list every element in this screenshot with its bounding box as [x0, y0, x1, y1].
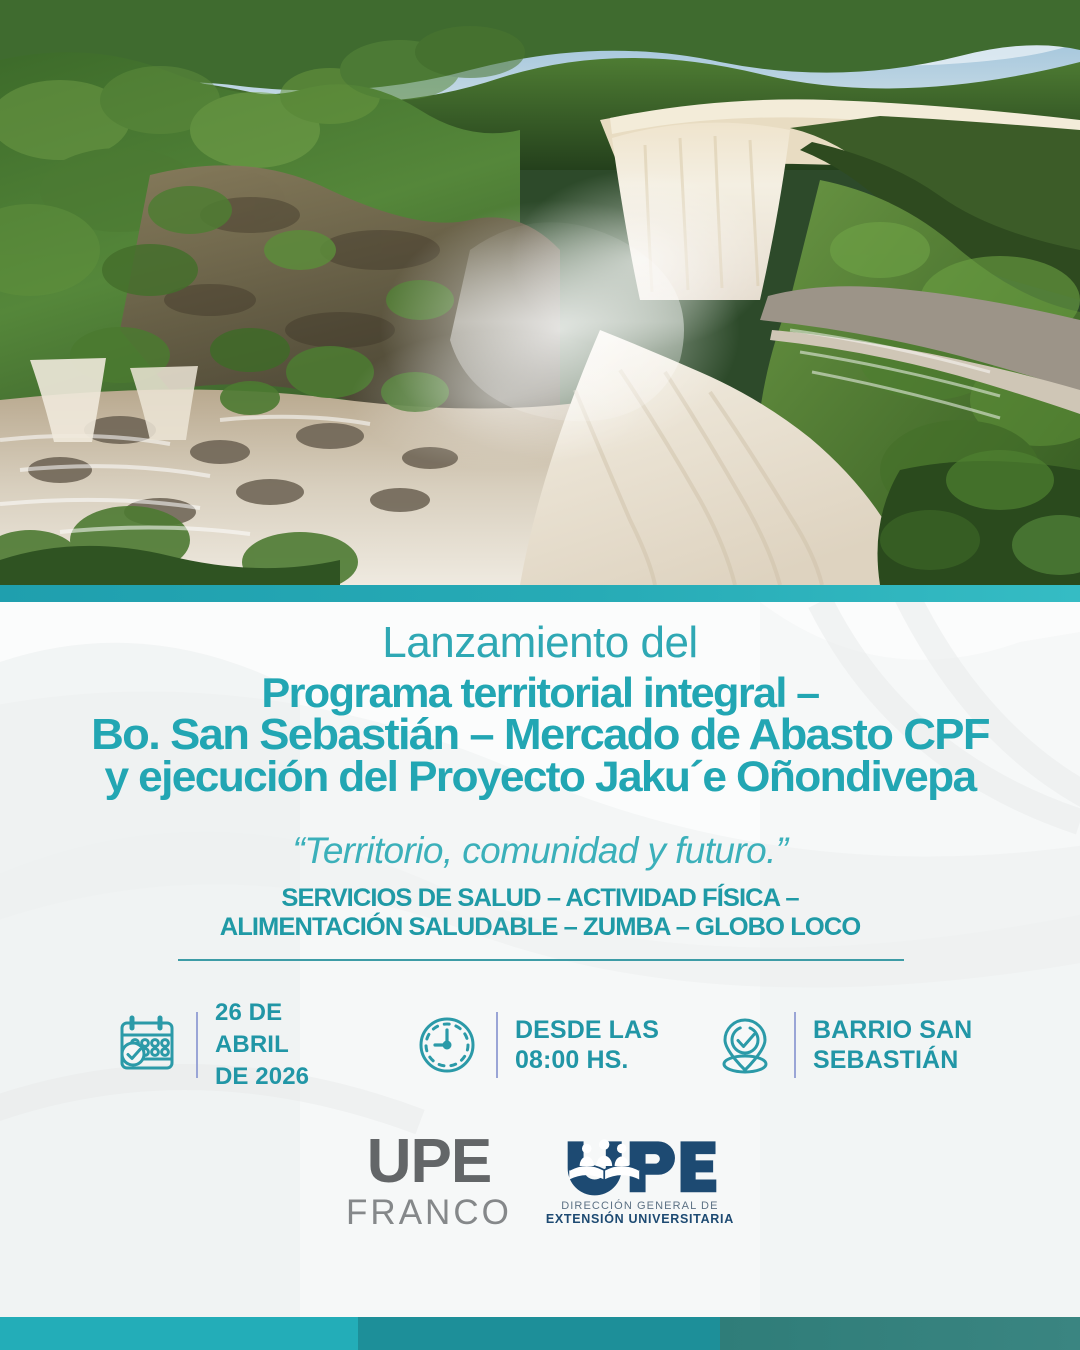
upe-franco-wordmark: UPE — [346, 1131, 512, 1193]
date-separator — [196, 1012, 198, 1078]
time-separator — [496, 1012, 498, 1078]
event-date-block: 26 DE ABRIL DE 2026 — [110, 987, 309, 1102]
title-line-2: Bo. San Sebastián – Mercado de Abasto CP… — [0, 714, 1080, 756]
services-list: SERVICIOS DE SALUD – ACTIVIDAD FÍSICA – … — [0, 884, 1080, 942]
upe-extension-logo: DIRECCIÓN GENERAL DE EXTENSIÓN UNIVERSIT… — [546, 1135, 734, 1226]
event-time-text: DESDE LAS 08:00 HS. — [515, 1015, 659, 1075]
teal-divider-stripe — [0, 585, 1080, 602]
title-line-3: y ejecución del Proyecto Jaku´e Oñondive… — [0, 756, 1080, 798]
title-line-1: Programa territorial integral – — [0, 672, 1080, 714]
clock-icon — [410, 1008, 484, 1082]
upe-emblem-icon — [556, 1135, 724, 1197]
upe-franco-logo: UPE FRANCO — [346, 1131, 512, 1230]
logo-row: UPE FRANCO — [0, 1120, 1080, 1240]
waterfall-illustration — [0, 0, 1080, 585]
location-pin-check-icon — [708, 1008, 782, 1082]
event-details-row: 26 DE ABRIL DE 2026 DESDE LAS 08:00 H — [0, 987, 1080, 1102]
event-location-block: BARRIO SAN SEBASTIÁN — [708, 987, 972, 1102]
upe-franco-subtext: FRANCO — [346, 1195, 512, 1230]
kicker-text: Lanzamiento del — [0, 618, 1080, 668]
event-time-block: DESDE LAS 08:00 HS. — [410, 987, 659, 1102]
event-location-text: BARRIO SAN SEBASTIÁN — [813, 1015, 972, 1075]
horizontal-divider — [178, 959, 904, 961]
tagline: “Territorio, comunidad y futuro.” — [0, 830, 1080, 872]
location-separator — [794, 1012, 796, 1078]
bottom-bar-segment-1 — [0, 1317, 358, 1350]
event-date-text: 26 DE ABRIL DE 2026 — [215, 997, 309, 1093]
poster: Lanzamiento del Programa territorial int… — [0, 0, 1080, 1350]
services-line-2: ALIMENTACIÓN SALUDABLE – ZUMBA – GLOBO L… — [0, 913, 1080, 942]
calendar-check-icon — [110, 1008, 184, 1082]
upe-logo-sub1: DIRECCIÓN GENERAL DE — [561, 1200, 718, 1212]
page-title: Programa territorial integral – Bo. San … — [0, 672, 1080, 798]
services-line-1: SERVICIOS DE SALUD – ACTIVIDAD FÍSICA – — [0, 884, 1080, 913]
bottom-color-bar — [0, 1317, 1080, 1350]
bottom-bar-segment-3 — [720, 1317, 1080, 1350]
content-panel: Lanzamiento del Programa territorial int… — [0, 602, 1080, 1317]
upe-logo-sub2: EXTENSIÓN UNIVERSITARIA — [546, 1212, 734, 1226]
bottom-bar-segment-2 — [358, 1317, 720, 1350]
waterfall-photo — [0, 0, 1080, 585]
